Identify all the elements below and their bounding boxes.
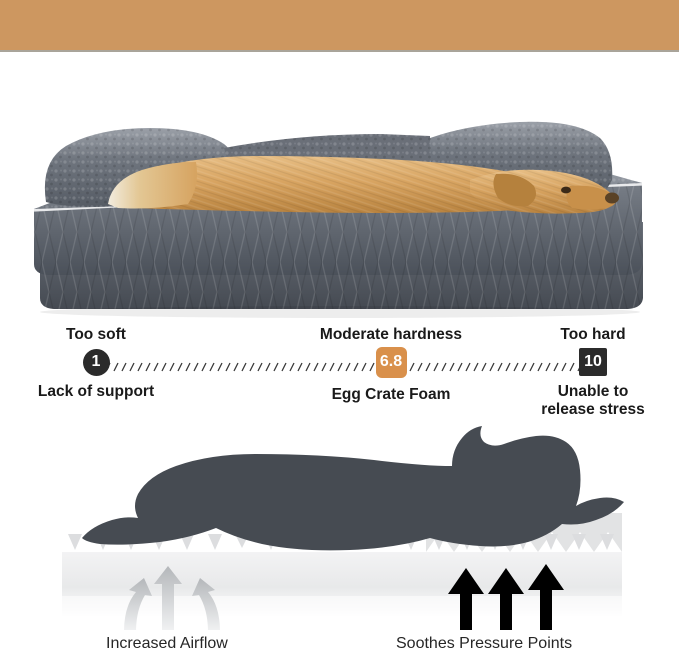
scale-node-bottom-label-line1: Unable to — [518, 383, 668, 401]
scale-node-too-hard: Too hard 10 Unable to release stress — [518, 326, 668, 419]
scale-node-bottom-label: Lack of support — [28, 383, 164, 401]
scale-node-bottom-label-line2: release stress — [518, 401, 668, 419]
caption-soothes-pressure-points: Soothes Pressure Points — [396, 635, 572, 653]
scale-badge-6-8: 6.8 — [376, 347, 407, 378]
scale-node-top-label: Moderate hardness — [296, 326, 486, 343]
hardness-scale: Too soft 1 Lack of support Moderate hard… — [0, 326, 679, 426]
scale-node-bottom-label: Egg Crate Foam — [296, 386, 486, 404]
dog-eye — [561, 187, 571, 194]
scale-node-moderate-hardness: Moderate hardness 6.8 Egg Crate Foam — [296, 326, 486, 404]
scale-node-top-label: Too soft — [28, 326, 164, 343]
bed-shadow — [40, 306, 640, 318]
header-banner: Orthopedic Support — [0, 0, 679, 52]
banner-background — [0, 0, 679, 52]
caption-increased-airflow: Increased Airflow — [106, 635, 228, 653]
diagram-captions: Increased Airflow Soothes Pressure Point… — [0, 620, 679, 660]
foam-diagram-illustration — [0, 420, 679, 630]
dog-nose — [605, 193, 619, 204]
product-infographic: Orthopedic Support — [0, 0, 679, 660]
product-photo-illustration — [0, 52, 679, 320]
foam-cross-section-diagram: Increased Airflow Soothes Pressure Point… — [0, 420, 679, 660]
scale-node-top-label: Too hard — [518, 326, 668, 343]
product-photo — [0, 52, 679, 320]
scale-badge-10: 10 — [579, 348, 607, 376]
scale-node-too-soft: Too soft 1 Lack of support — [28, 326, 164, 401]
scale-badge-1: 1 — [83, 349, 110, 376]
